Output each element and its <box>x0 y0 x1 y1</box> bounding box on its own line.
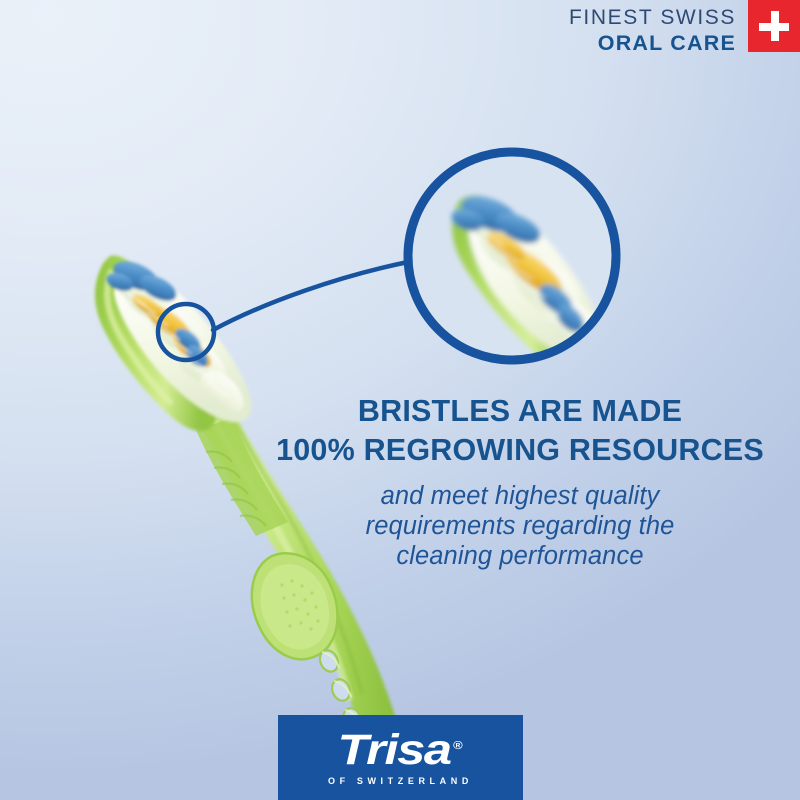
badge-line-oral-care: ORAL CARE <box>598 31 736 56</box>
trisa-tagline: OF SWITZERLAND <box>328 777 473 786</box>
promo-image: FINEST SWISS ORAL CARE BRISTLES ARE MADE… <box>0 0 800 800</box>
swiss-flag-icon <box>748 0 800 52</box>
trisa-wordmark: Trisa® <box>338 729 463 772</box>
badge-text: FINEST SWISS ORAL CARE <box>569 0 748 62</box>
trisa-wordmark-text: Trisa <box>338 726 451 774</box>
trisa-logo-plate: Trisa® OF SWITZERLAND <box>278 715 523 800</box>
magnifier-callout <box>0 0 800 800</box>
registered-trademark-icon: ® <box>454 740 464 752</box>
callout-marker-circle <box>158 304 214 360</box>
badge-line-finest-swiss: FINEST SWISS <box>569 6 736 31</box>
swiss-cross-vertical <box>771 11 779 41</box>
callout-connector-line <box>213 262 408 330</box>
finest-swiss-badge: FINEST SWISS ORAL CARE <box>569 0 800 62</box>
magnified-brush-head <box>404 148 640 430</box>
